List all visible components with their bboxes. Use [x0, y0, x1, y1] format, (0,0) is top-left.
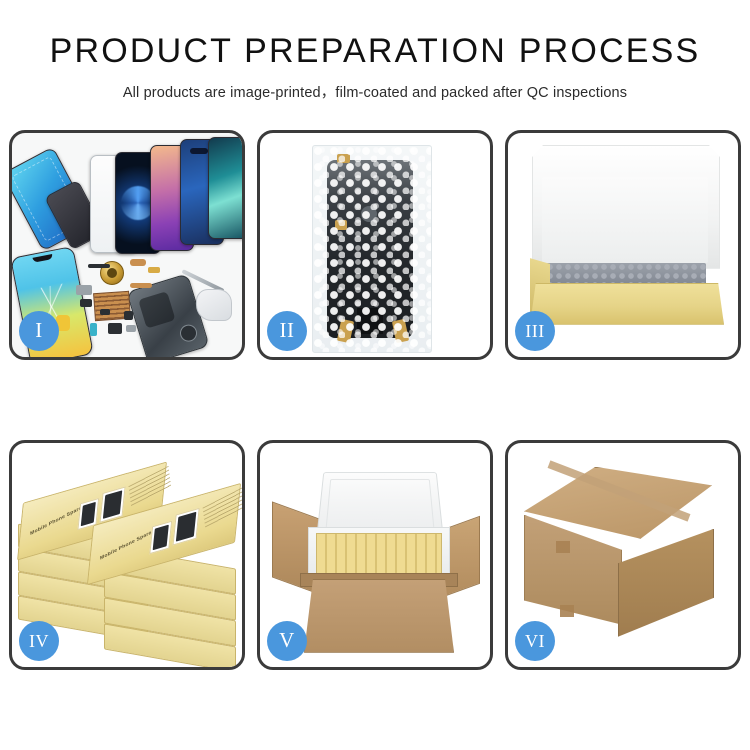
step-panel-3[interactable]: III — [505, 130, 741, 360]
step-badge-6: VI — [515, 621, 555, 661]
yellow-box-base — [530, 283, 724, 325]
header: PRODUCT PREPARATION PROCESS All products… — [0, 0, 750, 102]
page-title: PRODUCT PREPARATION PROCESS — [0, 34, 750, 70]
small-part — [130, 259, 146, 266]
small-part — [80, 299, 92, 307]
step-panel-6[interactable]: VI — [505, 440, 741, 670]
small-part — [124, 311, 133, 320]
step-panel-1[interactable]: I — [9, 130, 245, 360]
step-badge-2: II — [267, 311, 307, 351]
carton-front-wall — [304, 579, 454, 653]
step-badge-4: IV — [19, 621, 59, 661]
small-part — [108, 323, 122, 334]
small-part — [148, 267, 160, 273]
step-panel-5[interactable]: V — [257, 440, 493, 670]
process-step-grid: I II — [7, 130, 743, 670]
small-part — [76, 285, 92, 295]
step-badge-1: I — [19, 311, 59, 351]
product-preparation-infographic: PRODUCT PREPARATION PROCESS All products… — [0, 0, 750, 750]
carton-stamp — [556, 541, 570, 553]
carton-right-face — [618, 529, 714, 637]
page-subtitle: All products are image-printed，film-coat… — [0, 81, 750, 102]
small-part — [126, 325, 136, 332]
step-panel-4[interactable]: Mobile Phone Spare Parts Mobile Phone Sp… — [9, 440, 245, 670]
small-part — [100, 309, 110, 315]
bubble-wrap-bag — [312, 145, 432, 353]
bubble-texture-secondary — [313, 146, 431, 352]
foam-sheet — [542, 177, 708, 263]
phone-screen-teal-wave — [208, 137, 245, 239]
carton-stamp — [560, 605, 574, 617]
step-panel-2[interactable]: II — [257, 130, 493, 360]
step-badge-3: III — [515, 311, 555, 351]
step-badge-5: V — [267, 621, 307, 661]
small-part — [130, 283, 152, 288]
tweezers-and-hand — [178, 277, 232, 323]
small-part — [88, 264, 110, 268]
small-part — [90, 323, 97, 336]
